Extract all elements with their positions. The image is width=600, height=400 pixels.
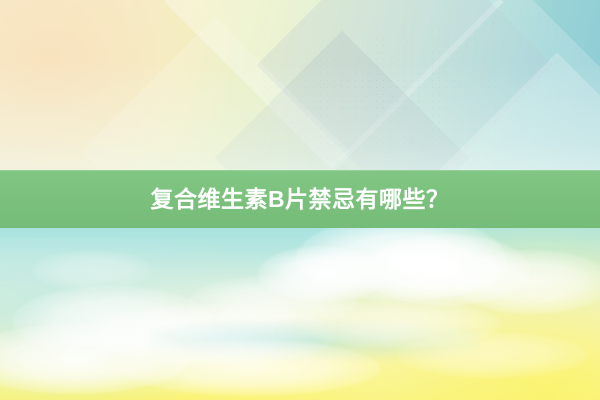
top-gradient-region [0,0,600,172]
article-header-banner: 复合维生素B片禁忌有哪些？ [0,0,600,400]
cloud [32,250,152,290]
cloud [452,250,600,314]
title-band: 复合维生素B片禁忌有哪些？ [0,170,600,228]
pale-bottom-wash [0,62,600,172]
cloud [120,340,380,396]
banner-title: 复合维生素B片禁忌有哪些？ [150,188,449,211]
cloud [398,332,588,378]
sky-region [0,228,600,400]
